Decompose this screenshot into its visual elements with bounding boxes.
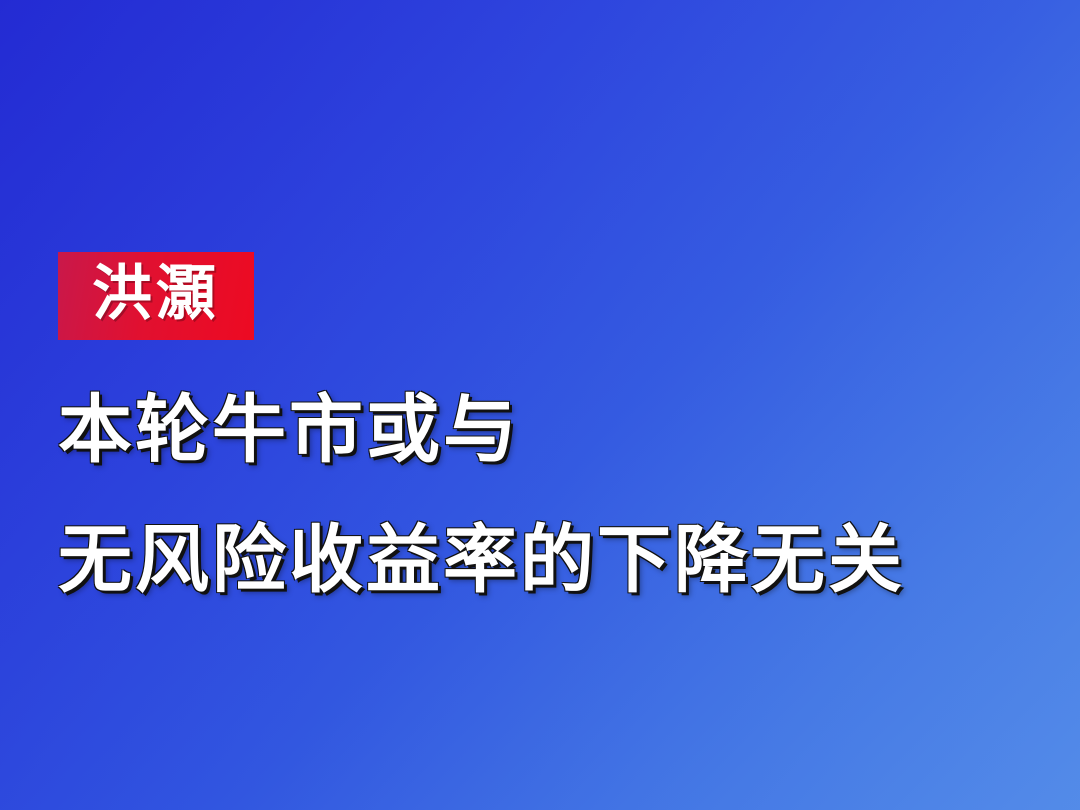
headline-line-2: 无风险收益率的下降无关 bbox=[58, 504, 1038, 616]
author-badge-label: 洪灝 bbox=[92, 264, 220, 324]
headline-line-1: 本轮牛市或与 bbox=[58, 374, 1038, 486]
slide-content: 洪灝 本轮牛市或与 无风险收益率的下降无关 bbox=[58, 252, 1038, 617]
author-badge: 洪灝 bbox=[58, 252, 254, 340]
headline-block: 本轮牛市或与 无风险收益率的下降无关 bbox=[58, 374, 1038, 617]
slide-canvas: 洪灝 本轮牛市或与 无风险收益率的下降无关 bbox=[0, 0, 1080, 810]
